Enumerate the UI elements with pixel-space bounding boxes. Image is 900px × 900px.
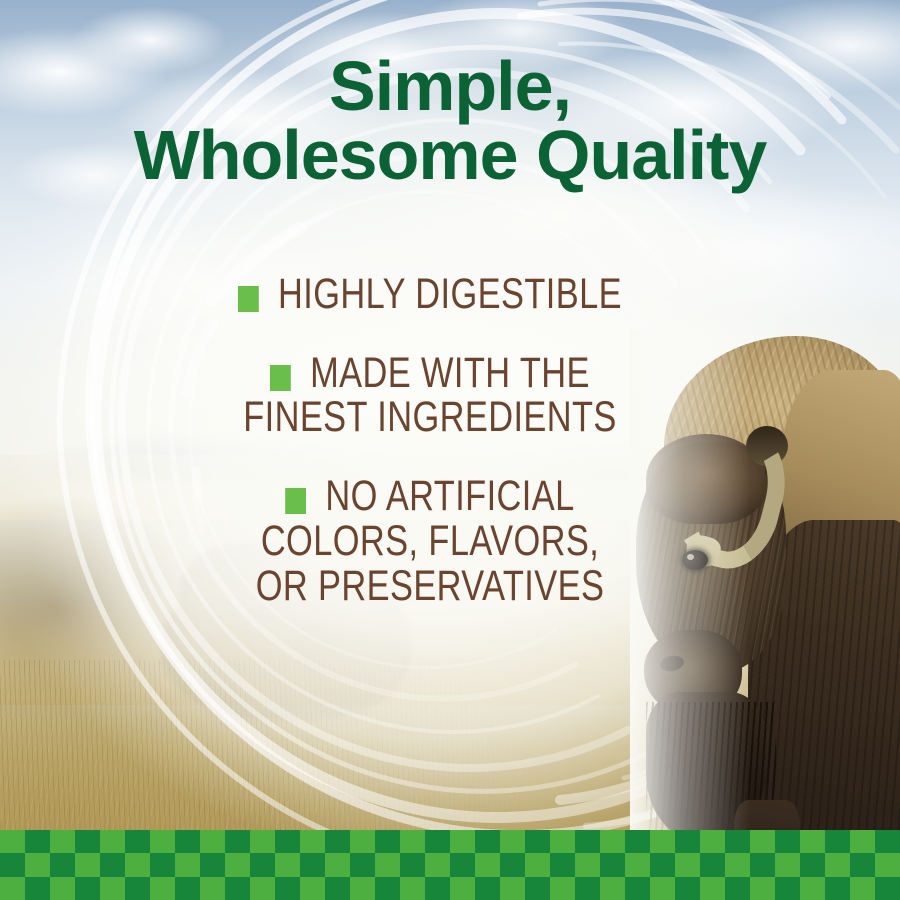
checker-cell	[100, 830, 125, 853]
checker-cell	[750, 853, 775, 876]
checker-cell	[750, 877, 775, 900]
checker-cell	[650, 853, 675, 876]
benefit-text: Finest Ingredients	[243, 395, 617, 440]
checker-cell	[0, 853, 25, 876]
list-item: Highly Digestible	[195, 272, 665, 317]
list-item: Made With The Finest Ingredients	[195, 351, 665, 440]
checker-cell	[850, 853, 875, 876]
checker-cell	[850, 877, 875, 900]
checker-cell	[0, 877, 25, 900]
checker-cell	[250, 853, 275, 876]
checker-cell	[775, 877, 800, 900]
headline-line-2: Wholesome Quality	[100, 121, 800, 190]
checker-cell	[250, 830, 275, 853]
checker-cell	[125, 877, 150, 900]
checker-cell	[800, 830, 825, 853]
checker-cell	[150, 853, 175, 876]
checker-row	[0, 877, 900, 900]
list-item: No Artificial Colors, Flavors, Or Preser…	[195, 474, 665, 608]
checker-cell	[825, 853, 850, 876]
checker-cell	[100, 877, 125, 900]
checker-cell	[225, 853, 250, 876]
checker-cell	[550, 877, 575, 900]
checker-cell	[525, 853, 550, 876]
checker-cell	[175, 853, 200, 876]
checker-cell	[850, 830, 875, 853]
checker-cell	[400, 830, 425, 853]
checker-row	[0, 830, 900, 853]
checker-cell	[25, 877, 50, 900]
checker-cell	[725, 877, 750, 900]
checker-cell	[350, 853, 375, 876]
checker-cell	[875, 830, 900, 853]
checker-cell	[125, 830, 150, 853]
checker-cell	[875, 853, 900, 876]
checker-cell	[500, 877, 525, 900]
checker-cell	[825, 830, 850, 853]
checker-cell	[75, 877, 100, 900]
checker-cell	[775, 830, 800, 853]
checker-cell	[175, 877, 200, 900]
checker-cell	[675, 830, 700, 853]
checker-cell	[300, 853, 325, 876]
checker-cell	[300, 877, 325, 900]
checker-cell	[25, 830, 50, 853]
checker-cell	[75, 830, 100, 853]
promo-banner: Simple, Wholesome Quality Highly Digesti…	[0, 0, 900, 900]
checker-cell	[250, 877, 275, 900]
checker-cell	[475, 853, 500, 876]
checker-cell	[775, 853, 800, 876]
checkerboard-footer-band	[0, 830, 900, 900]
benefit-text: No Artificial	[325, 474, 574, 519]
checker-cell	[425, 877, 450, 900]
checker-cell	[525, 830, 550, 853]
green-square-bullet-icon	[238, 286, 259, 312]
checker-cell	[700, 853, 725, 876]
checker-cell	[275, 877, 300, 900]
checker-cell	[425, 853, 450, 876]
checker-cell	[400, 853, 425, 876]
checker-cell	[25, 853, 50, 876]
checker-cell	[400, 877, 425, 900]
checker-cell	[700, 830, 725, 853]
checker-cell	[725, 853, 750, 876]
checker-cell	[225, 877, 250, 900]
checker-cell	[225, 830, 250, 853]
checker-cell	[200, 830, 225, 853]
benefit-text: Made With The	[310, 351, 590, 396]
checker-cell	[450, 830, 475, 853]
headline-line-1: Simple,	[100, 52, 800, 121]
checker-row	[0, 853, 900, 876]
checker-cell	[550, 830, 575, 853]
checker-cell	[300, 830, 325, 853]
checker-cell	[500, 853, 525, 876]
checker-cell	[50, 853, 75, 876]
checker-cell	[100, 853, 125, 876]
checker-cell	[375, 830, 400, 853]
checker-cell	[450, 877, 475, 900]
page-title: Simple, Wholesome Quality	[100, 52, 800, 189]
benefit-text: Highly Digestible	[278, 272, 622, 317]
checker-cell	[650, 877, 675, 900]
checker-cell	[625, 830, 650, 853]
checker-cell	[350, 877, 375, 900]
checker-cell	[150, 877, 175, 900]
checker-cell	[625, 877, 650, 900]
checker-cell	[525, 877, 550, 900]
checker-cell	[375, 853, 400, 876]
green-square-bullet-icon	[270, 365, 291, 391]
benefit-text: Or Preservatives	[256, 564, 605, 609]
banner-content: Simple, Wholesome Quality Highly Digesti…	[0, 0, 900, 838]
benefits-list: Highly Digestible Made With The Finest I…	[195, 272, 665, 642]
checker-cell	[325, 830, 350, 853]
checker-cell	[475, 830, 500, 853]
checker-cell	[500, 830, 525, 853]
checker-cell	[275, 853, 300, 876]
checker-cell	[750, 830, 775, 853]
checker-cell	[375, 877, 400, 900]
checker-cell	[275, 830, 300, 853]
checker-cell	[800, 877, 825, 900]
checker-cell	[575, 877, 600, 900]
checker-cell	[50, 830, 75, 853]
checker-cell	[725, 830, 750, 853]
green-square-bullet-icon	[285, 488, 306, 514]
checker-cell	[450, 853, 475, 876]
checker-cell	[325, 853, 350, 876]
benefit-text: Colors, Flavors,	[261, 519, 599, 564]
checker-cell	[600, 853, 625, 876]
checker-cell	[550, 853, 575, 876]
checker-cell	[800, 853, 825, 876]
checker-cell	[0, 830, 25, 853]
checker-cell	[675, 853, 700, 876]
checker-cell	[325, 877, 350, 900]
checker-cell	[425, 830, 450, 853]
checker-cell	[475, 877, 500, 900]
checker-cell	[650, 830, 675, 853]
checker-cell	[600, 877, 625, 900]
checker-cell	[125, 853, 150, 876]
checker-cell	[175, 830, 200, 853]
checker-cell	[875, 877, 900, 900]
checker-cell	[700, 877, 725, 900]
checker-cell	[675, 877, 700, 900]
checker-cell	[75, 853, 100, 876]
checker-cell	[200, 877, 225, 900]
checker-cell	[575, 853, 600, 876]
checker-cell	[150, 830, 175, 853]
checker-cell	[625, 853, 650, 876]
checker-cell	[600, 830, 625, 853]
checker-cell	[575, 830, 600, 853]
checker-cell	[50, 877, 75, 900]
checker-cell	[200, 853, 225, 876]
checker-cell	[825, 877, 850, 900]
checker-cell	[350, 830, 375, 853]
